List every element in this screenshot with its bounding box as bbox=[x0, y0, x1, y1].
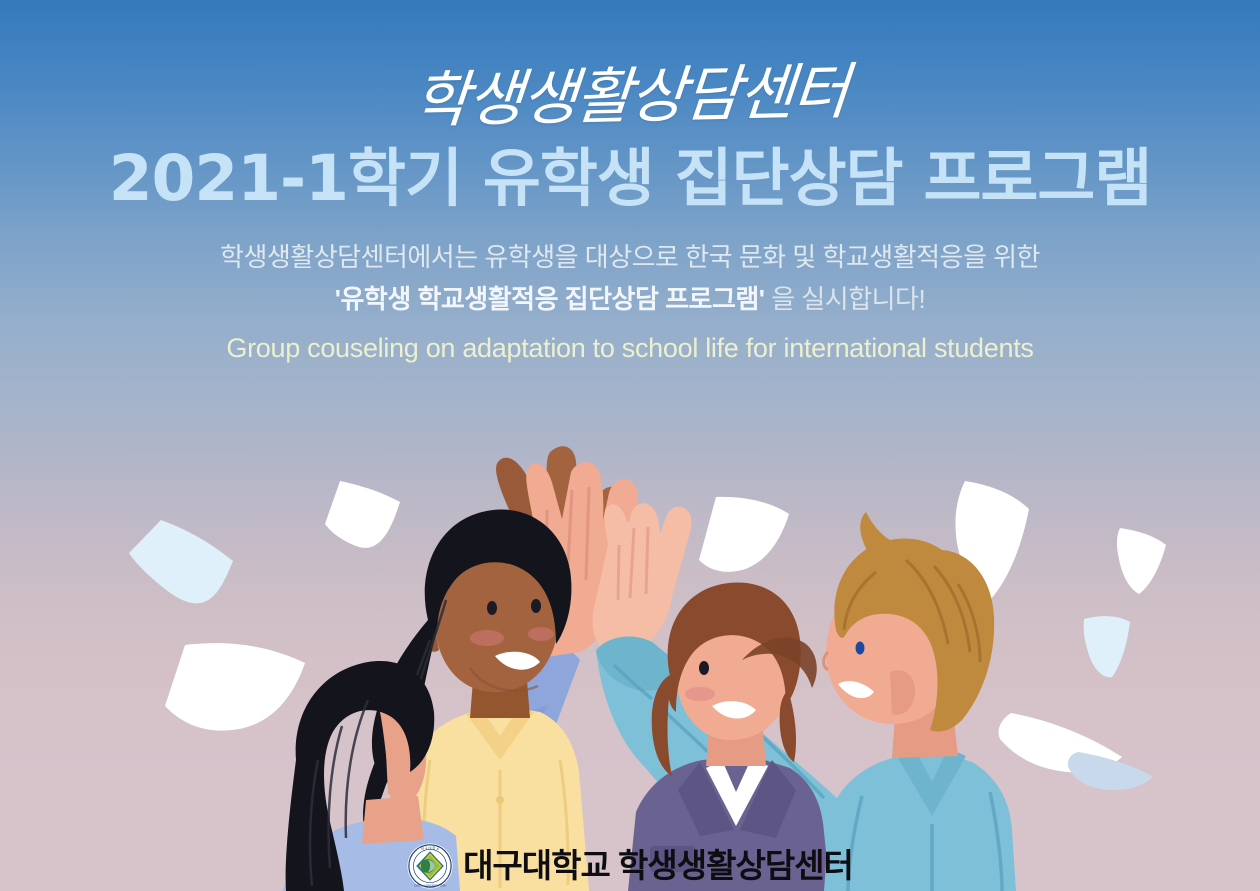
paper-6 bbox=[1084, 616, 1130, 677]
paper-3 bbox=[165, 643, 305, 730]
svg-text:대 구 대 학 교: 대 구 대 학 교 bbox=[421, 845, 439, 850]
woman-yellow-eye-right bbox=[531, 599, 541, 613]
svg-text:DAEGU UNIVERSITY 1956: DAEGU UNIVERSITY 1956 bbox=[415, 885, 447, 888]
shirt-button bbox=[496, 796, 504, 804]
paper-2 bbox=[325, 481, 400, 548]
daegu-university-seal-logo: 대 구 대 학 교 DAEGU UNIVERSITY 1956 bbox=[407, 843, 453, 889]
footer-organization-name: 대구대학교 학생생활상담센터 bbox=[463, 848, 853, 884]
description-line-2-suffix: 을 실시합니다! bbox=[764, 284, 925, 314]
paper-9 bbox=[1117, 528, 1166, 594]
brush-script-title: 학생생활상담센터 bbox=[0, 53, 1260, 140]
paper-1 bbox=[129, 520, 233, 603]
footer-bar: 대 구 대 학 교 DAEGU UNIVERSITY 1956 대구대학교 학생… bbox=[0, 843, 1260, 891]
woman-purple-eye-left bbox=[699, 661, 709, 675]
page-title: 2021-1학기 유학생 집단상담 프로그램 bbox=[0, 147, 1260, 211]
woman-yellow-eye-left bbox=[487, 601, 497, 615]
poster-canvas: 학생생활상담센터 2021-1학기 유학생 집단상담 프로그램 학생생활상담센터… bbox=[0, 0, 1260, 891]
description-line-english: Group couseling on adaptation to school … bbox=[0, 329, 1260, 368]
header-text-block: 학생생활상담센터 2021-1학기 유학생 집단상담 프로그램 학생생활상담센터… bbox=[0, 0, 1260, 368]
description-line-1: 학생생활상담센터에서는 유학생을 대상으로 한국 문화 및 학교생활적응을 위한 bbox=[0, 239, 1260, 277]
program-name-emphasis: '유학생 학교생활적응 집단상담 프로그램' bbox=[335, 284, 765, 314]
woman-yellow-blush-left bbox=[470, 630, 504, 646]
description-line-2: '유학생 학교생활적응 집단상담 프로그램' 을 실시합니다! bbox=[0, 281, 1260, 319]
woman-purple-blush bbox=[685, 687, 715, 701]
paper-4 bbox=[699, 497, 789, 572]
woman-yellow-blush-right bbox=[528, 627, 554, 641]
blond-eye bbox=[856, 642, 865, 655]
